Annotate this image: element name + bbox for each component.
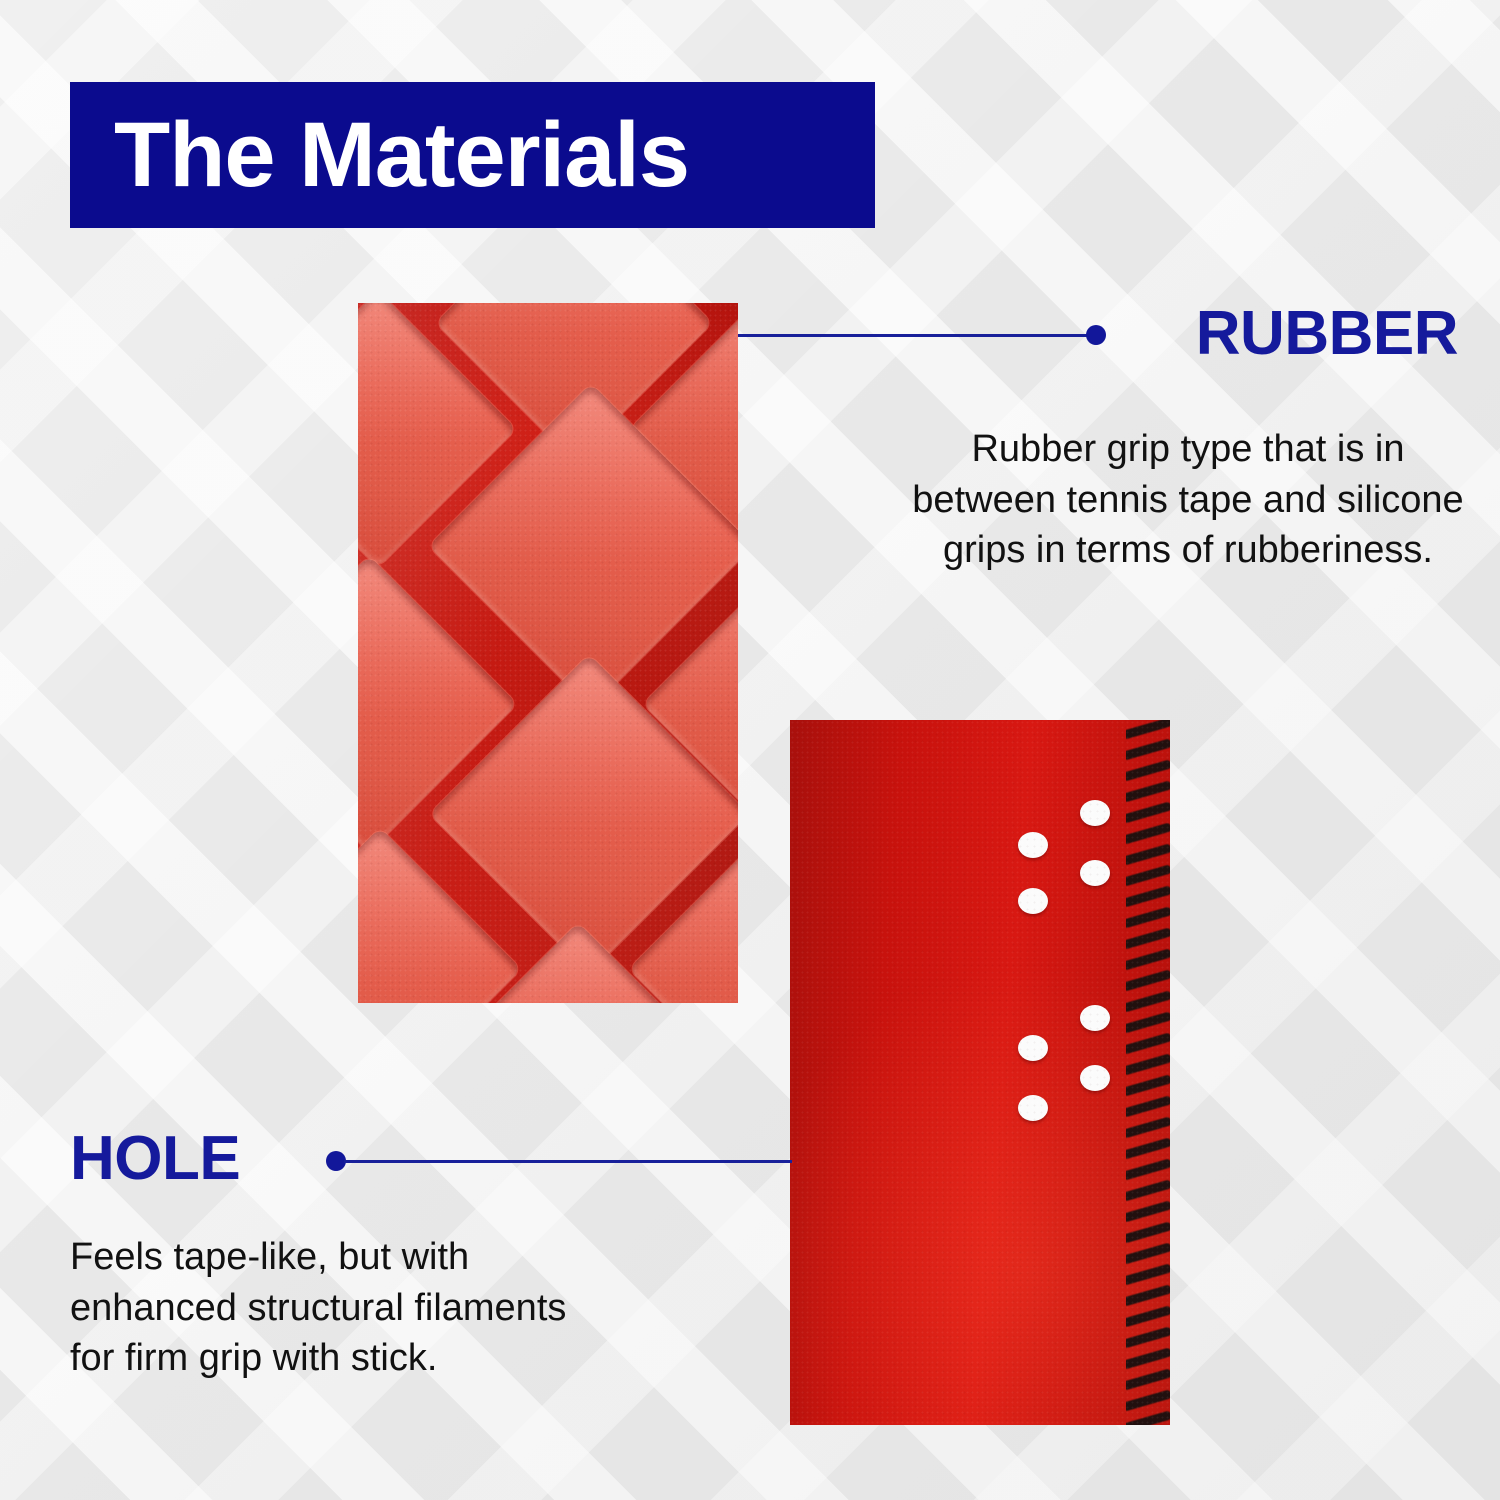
- perforated-tape-photo: [790, 720, 1170, 1425]
- filament-dash: [1126, 948, 1170, 970]
- tape-hole: [1080, 1065, 1110, 1091]
- filament-dash: [1126, 1242, 1170, 1264]
- filament-dash: [1126, 1305, 1170, 1327]
- tape-hole: [1018, 832, 1048, 858]
- filament-dash: [1126, 1326, 1170, 1348]
- filament-dash: [1126, 801, 1170, 823]
- filament-dash: [1126, 1158, 1170, 1180]
- filament-dash: [1126, 1221, 1170, 1243]
- filament-dash: [1126, 1137, 1170, 1159]
- filament-dash: [1126, 1095, 1170, 1117]
- tape-surface: [790, 720, 1170, 1425]
- filament-dash: [1126, 720, 1170, 740]
- callout-heading-rubber: RUBBER: [1196, 303, 1458, 365]
- hole-connector-dot: [326, 1151, 346, 1171]
- filament-dash: [1126, 1032, 1170, 1054]
- callout-body-hole: Feels tape-like, but with enhanced struc…: [70, 1232, 590, 1384]
- tape-hole: [1018, 1095, 1048, 1121]
- rubber-grip-photo: [358, 303, 738, 1003]
- title-banner: The Materials: [70, 82, 875, 228]
- rubber-connector-dot: [1086, 325, 1106, 345]
- filament-dash: [1126, 1053, 1170, 1075]
- filament-dash: [1126, 1284, 1170, 1306]
- tape-hole: [1018, 1035, 1048, 1061]
- filament-dash: [1126, 1116, 1170, 1138]
- filament-dash: [1126, 927, 1170, 949]
- filament-dash: [1126, 906, 1170, 928]
- filament-dash: [1126, 822, 1170, 844]
- filament-dash: [1126, 1368, 1170, 1390]
- filament-dash: [1126, 780, 1170, 802]
- hole-connector-line: [344, 1160, 792, 1163]
- filament-edge-strip: [1126, 720, 1170, 1425]
- infographic-canvas: The Materials RUBBER Rubber grip type th…: [0, 0, 1500, 1500]
- page-title: The Materials: [114, 109, 689, 201]
- rubber-connector-line: [738, 334, 1096, 337]
- filament-dash: [1126, 843, 1170, 865]
- tape-hole: [1080, 1005, 1110, 1031]
- filament-dash: [1126, 885, 1170, 907]
- filament-dash: [1126, 1347, 1170, 1369]
- filament-dash: [1126, 969, 1170, 991]
- filament-dash: [1126, 1263, 1170, 1285]
- filament-dash: [1126, 738, 1170, 760]
- filament-dash: [1126, 864, 1170, 886]
- callout-body-rubber: Rubber grip type that is in between tenn…: [910, 424, 1466, 576]
- filament-dash: [1126, 759, 1170, 781]
- tape-hole: [1018, 888, 1048, 914]
- filament-dash: [1126, 1179, 1170, 1201]
- filament-dash: [1126, 1200, 1170, 1222]
- filament-dash: [1126, 1011, 1170, 1033]
- filament-dash: [1126, 990, 1170, 1012]
- tape-hole: [1080, 860, 1110, 886]
- filament-dash: [1126, 1389, 1170, 1411]
- tape-hole: [1080, 800, 1110, 826]
- filament-dash: [1126, 1410, 1170, 1425]
- callout-heading-hole: HOLE: [70, 1128, 240, 1190]
- filament-dash: [1126, 1074, 1170, 1096]
